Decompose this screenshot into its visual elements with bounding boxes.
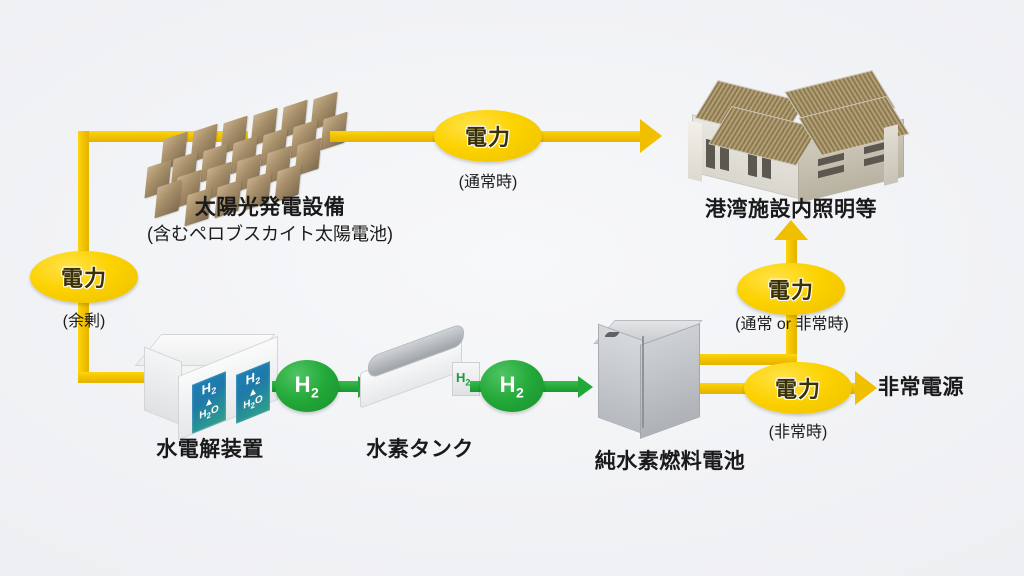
pill-power-normal-condition: (通常時) — [434, 168, 542, 192]
flow-arrowhead-to-facility-top — [640, 119, 662, 153]
hydrogen-tank-icon: H2 — [356, 330, 482, 410]
port-warehouse-building-icon — [668, 70, 898, 195]
pill-power-emergency-condition: (非常時) — [744, 418, 852, 442]
solar-label: 太陽光発電設備 — [105, 196, 435, 220]
flow-arrowhead-to-emergency — [855, 371, 877, 405]
pill-hydrogen-1-label: H2 — [295, 372, 320, 400]
electrolyzer-unit-icon: H2 ▲ H2O H2 ▲ H2O — [144, 334, 280, 438]
flow-arrowhead-up-to-facility — [774, 220, 808, 240]
pill-power-normal-or-emergency-condition: (通常 or 非常時) — [712, 310, 872, 334]
fuel-cell-label: 純水素燃料電池 — [540, 450, 800, 474]
solar-panel-array-icon — [140, 60, 360, 185]
pill-power-surplus-condition: (余剰) — [30, 307, 138, 331]
hydrogen-tank-label: 水素タンク — [340, 438, 500, 462]
pill-power-normal-or-emergency: 電力 — [737, 263, 845, 315]
pill-power-surplus: 電力 — [30, 251, 138, 303]
port-facility-label: 港湾施設内照明等 — [666, 198, 916, 222]
solar-sublabel: (含むペロブスカイト太陽電池) — [85, 224, 455, 245]
hydrogen-tank-badge: H2 — [456, 370, 470, 388]
flow-arrowhead-h2-to-fuelcell — [578, 376, 593, 398]
pill-power-surplus-label: 電力 — [61, 261, 107, 293]
pill-power-normal: 電力 — [434, 110, 542, 162]
pill-power-emergency: 電力 — [744, 362, 852, 414]
pill-hydrogen-2: H2 — [480, 360, 544, 412]
pill-power-emergency-label: 電力 — [775, 372, 821, 404]
pill-hydrogen-2-label: H2 — [500, 372, 525, 400]
pill-power-normal-or-emergency-label: 電力 — [768, 273, 814, 305]
pill-hydrogen-1: H2 — [275, 360, 339, 412]
flow-line-left-to-electrolyzer — [78, 372, 150, 383]
electrolyzer-label: 水電解装置 — [130, 438, 290, 462]
diagram-canvas: 電力 (余剰) 太陽光発電設備 (含むペロブスカイト太陽電池) — [0, 0, 1024, 576]
emergency-power-label: 非常電源 — [878, 376, 1018, 400]
fuel-cell-cabinet-icon — [596, 318, 706, 446]
pill-power-normal-label: 電力 — [465, 120, 511, 152]
